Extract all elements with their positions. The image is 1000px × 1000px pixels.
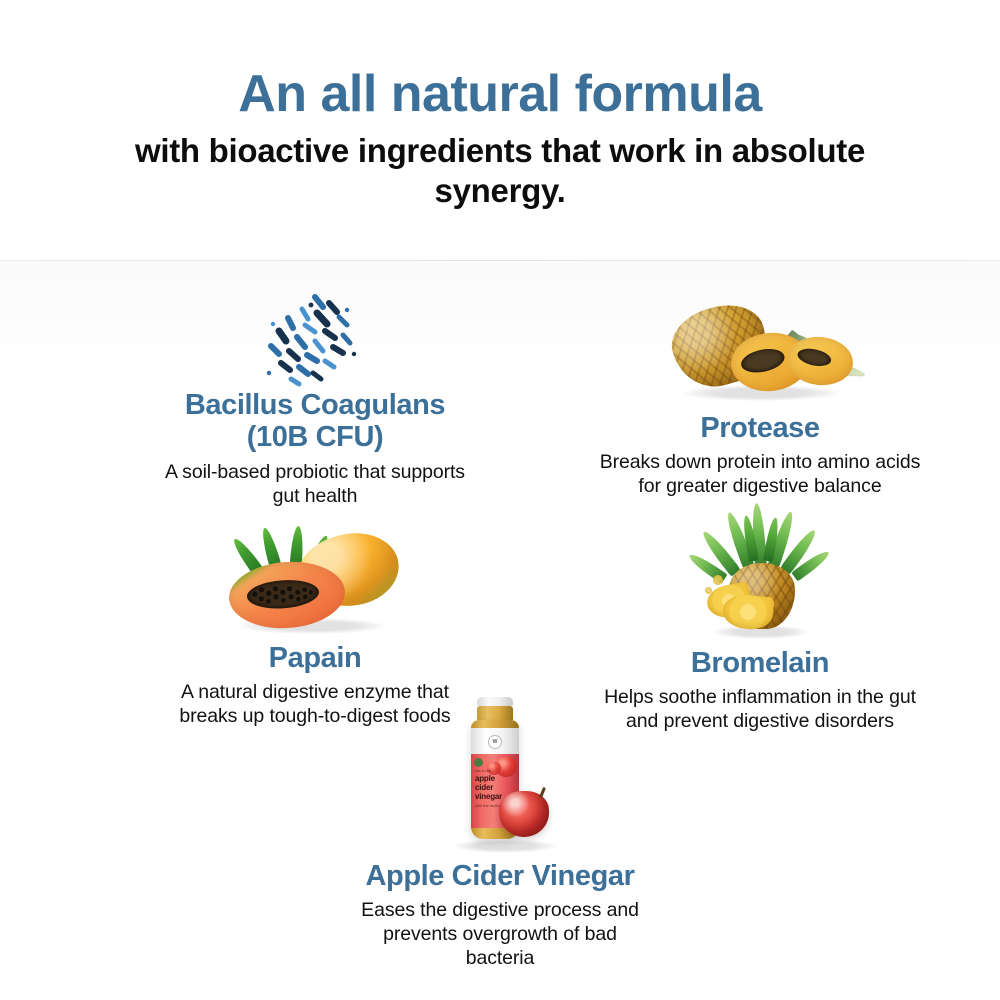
brand-logo: W xyxy=(488,735,502,749)
header-section: An all natural formula with bioactive in… xyxy=(0,0,1000,260)
ingredient-description: Breaks down protein into amino acids for… xyxy=(595,451,925,499)
page-title: An all natural formula xyxy=(238,66,762,122)
ingredient-title: Protease xyxy=(570,412,950,444)
pineapple-photo xyxy=(685,501,835,641)
ingredient-title: Papain xyxy=(115,642,515,674)
ingredient-title: Bromelain xyxy=(565,647,955,679)
papaya-photo xyxy=(215,526,415,636)
bottle-kicker: raw & raw xyxy=(475,769,519,773)
ingredient-title: Bacillus Coagulans (10B CFU) xyxy=(105,389,525,454)
ingredient-title-line1: Bacillus Coagulans xyxy=(185,389,445,421)
organic-seal-icon xyxy=(474,758,483,767)
ingredient-card-bacillus-coagulans: Bacillus Coagulans (10B CFU) A soil-base… xyxy=(105,291,525,509)
ingredient-description: Eases the digestive process and prevents… xyxy=(350,899,650,971)
bottle-product-line1: apple xyxy=(475,775,519,783)
bacteria-rods-icon xyxy=(255,291,375,389)
page-subtitle: with bioactive ingredients that work in … xyxy=(120,131,880,212)
ingredients-infographic: An all natural formula with bioactive in… xyxy=(0,0,1000,1000)
ingredient-title: Apple Cider Vinegar xyxy=(320,860,680,892)
bottle-product-line2: cider xyxy=(475,784,519,792)
ingredient-description: A soil-based probiotic that supports gut… xyxy=(165,461,465,509)
pineapple-papaya-photo xyxy=(645,281,875,406)
papaya-seeds xyxy=(246,578,320,611)
ingredient-card-apple-cider-vinegar: W raw & raw apple cider vinegar with the… xyxy=(320,691,680,971)
juice-droplet xyxy=(705,587,712,594)
acv-bottle-apple-photo: W raw & raw apple cider vinegar with the… xyxy=(415,691,585,856)
apple-stem xyxy=(539,787,546,798)
juice-droplet xyxy=(713,575,723,585)
ingredient-card-protease: Protease Breaks down protein into amino … xyxy=(570,281,950,499)
ingredients-grid: Bacillus Coagulans (10B CFU) A soil-base… xyxy=(0,261,1000,1000)
ingredient-title-line2: (10B CFU) xyxy=(247,421,384,453)
papaya-seeds xyxy=(796,346,833,369)
bottle-label-top: W xyxy=(471,728,519,754)
bottle-cap xyxy=(477,697,513,706)
image-shadow xyxy=(453,839,557,853)
papaya-seeds xyxy=(739,345,787,376)
bottle-neck xyxy=(477,706,513,720)
